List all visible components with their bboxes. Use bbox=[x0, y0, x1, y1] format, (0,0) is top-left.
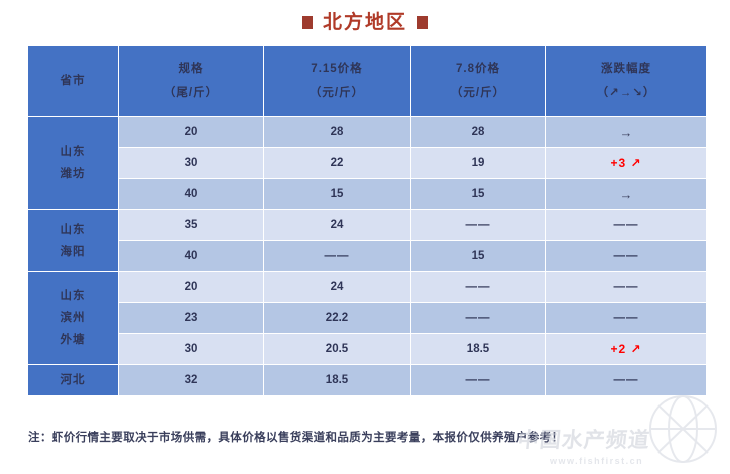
province-line: 滨州 bbox=[28, 307, 118, 329]
price-715-cell: 28 bbox=[264, 117, 410, 147]
table-row: 302219+3 ↗ bbox=[28, 148, 706, 178]
price-715-cell: 15 bbox=[264, 179, 410, 209]
table-row: 山东潍坊202828→ bbox=[28, 117, 706, 147]
province-cell: 山东潍坊 bbox=[28, 117, 118, 209]
price-78-cell: —— bbox=[411, 365, 545, 395]
spec-cell-value: 23 bbox=[185, 312, 198, 324]
price-715-cell-value: 22.2 bbox=[326, 312, 348, 324]
change-value: —— bbox=[614, 374, 639, 386]
change-value: —— bbox=[614, 312, 639, 324]
price-715-cell-value: —— bbox=[325, 250, 350, 262]
column-header-price-715: 7.15价格 （元/斤） bbox=[264, 46, 410, 116]
spec-cell: 30 bbox=[119, 148, 263, 178]
change-value: +2 ↗ bbox=[610, 342, 641, 356]
price-78-cell: —— bbox=[411, 210, 545, 240]
column-header-change-main: 涨跌幅度 bbox=[546, 59, 706, 79]
change-value: +3 ↗ bbox=[610, 156, 641, 170]
price-715-cell-value: 18.5 bbox=[326, 374, 348, 386]
spec-cell: 32 bbox=[119, 365, 263, 395]
province-line: 海阳 bbox=[28, 241, 118, 263]
watermark-url: www.fishfirst.cn bbox=[550, 456, 643, 466]
spec-cell-value: 40 bbox=[185, 250, 198, 262]
table-body: 山东潍坊202828→302219+3 ↗401515→山东海阳3524————… bbox=[28, 117, 706, 395]
province-line: 潍坊 bbox=[28, 163, 118, 185]
shrimp-price-table: 省市 规格 （尾/斤） 7.15价格 （元/斤） 7.8价格 （元/斤） 涨跌幅… bbox=[27, 45, 707, 396]
spec-cell: 30 bbox=[119, 334, 263, 364]
table-row: 山东海阳3524———— bbox=[28, 210, 706, 240]
table-row: 河北3218.5———— bbox=[28, 365, 706, 395]
price-78-cell: 18.5 bbox=[411, 334, 545, 364]
change-cell: —— bbox=[546, 241, 706, 271]
price-78-cell-value: —— bbox=[466, 374, 491, 386]
table-header-row: 省市 规格 （尾/斤） 7.15价格 （元/斤） 7.8价格 （元/斤） 涨跌幅… bbox=[28, 46, 706, 116]
province-cell: 山东滨州外塘 bbox=[28, 272, 118, 364]
change-cell: —— bbox=[546, 365, 706, 395]
spec-cell: 35 bbox=[119, 210, 263, 240]
change-cell: —— bbox=[546, 303, 706, 333]
spec-cell-value: 30 bbox=[185, 343, 198, 355]
price-715-cell: 24 bbox=[264, 272, 410, 302]
price-715-cell: 22 bbox=[264, 148, 410, 178]
spec-cell: 40 bbox=[119, 241, 263, 271]
spec-cell: 20 bbox=[119, 272, 263, 302]
price-78-cell: 19 bbox=[411, 148, 545, 178]
change-value: —— bbox=[614, 219, 639, 231]
spec-cell-value: 20 bbox=[185, 126, 198, 138]
spec-cell: 40 bbox=[119, 179, 263, 209]
price-715-cell-value: 24 bbox=[331, 281, 344, 293]
table-header: 省市 规格 （尾/斤） 7.15价格 （元/斤） 7.8价格 （元/斤） 涨跌幅… bbox=[28, 46, 706, 116]
price-715-cell: 24 bbox=[264, 210, 410, 240]
column-header-price-78-main: 7.8价格 bbox=[411, 59, 545, 79]
change-cell: —— bbox=[546, 272, 706, 302]
column-header-spec: 规格 （尾/斤） bbox=[119, 46, 263, 116]
spec-cell-value: 20 bbox=[185, 281, 198, 293]
price-78-cell-value: 28 bbox=[472, 126, 485, 138]
price-715-cell-value: 20.5 bbox=[326, 343, 348, 355]
price-78-cell: 15 bbox=[411, 179, 545, 209]
change-value: —— bbox=[614, 250, 639, 262]
price-78-cell-value: 15 bbox=[472, 250, 485, 262]
price-table-container: 省市 规格 （尾/斤） 7.15价格 （元/斤） 7.8价格 （元/斤） 涨跌幅… bbox=[27, 45, 703, 396]
province-cell: 河北 bbox=[28, 365, 118, 395]
table-row: 山东滨州外塘2024———— bbox=[28, 272, 706, 302]
column-header-price-715-unit: （元/斤） bbox=[264, 83, 410, 103]
price-715-cell-value: 22 bbox=[331, 157, 344, 169]
change-value: → bbox=[620, 125, 633, 140]
column-header-price-78: 7.8价格 （元/斤） bbox=[411, 46, 545, 116]
price-715-cell: 18.5 bbox=[264, 365, 410, 395]
price-715-cell-value: 24 bbox=[331, 219, 344, 231]
page-title-bar: 北方地区 bbox=[0, 0, 730, 45]
table-row: 3020.518.5+2 ↗ bbox=[28, 334, 706, 364]
change-value: → bbox=[620, 187, 633, 202]
price-78-cell: —— bbox=[411, 303, 545, 333]
column-header-change: 涨跌幅度 （↗→↘） bbox=[546, 46, 706, 116]
price-715-cell: 20.5 bbox=[264, 334, 410, 364]
column-header-change-legend: （↗→↘） bbox=[546, 83, 706, 103]
spec-cell-value: 32 bbox=[185, 374, 198, 386]
title-square-right-icon bbox=[417, 16, 428, 29]
table-row: 2322.2———— bbox=[28, 303, 706, 333]
price-78-cell-value: —— bbox=[466, 281, 491, 293]
column-header-price-78-unit: （元/斤） bbox=[411, 83, 545, 103]
table-row: 40——15—— bbox=[28, 241, 706, 271]
price-715-cell-value: 28 bbox=[331, 126, 344, 138]
column-header-price-715-main: 7.15价格 bbox=[264, 59, 410, 79]
change-cell: → bbox=[546, 117, 706, 147]
column-header-province: 省市 bbox=[28, 46, 118, 116]
province-line: 外塘 bbox=[28, 329, 118, 351]
price-78-cell-value: 19 bbox=[472, 157, 485, 169]
column-header-province-main: 省市 bbox=[28, 71, 118, 91]
price-715-cell-value: 15 bbox=[331, 188, 344, 200]
table-row: 401515→ bbox=[28, 179, 706, 209]
change-value: —— bbox=[614, 281, 639, 293]
column-header-spec-unit: （尾/斤） bbox=[119, 83, 263, 103]
change-cell: → bbox=[546, 179, 706, 209]
footer-note: 注：虾价行情主要取决于市场供需，具体价格以售货渠道和品质为主要考量，本报价仅供养… bbox=[28, 429, 704, 445]
change-cell: +2 ↗ bbox=[546, 334, 706, 364]
price-78-cell-value: —— bbox=[466, 312, 491, 324]
province-line: 山东 bbox=[28, 219, 118, 241]
spec-cell-value: 35 bbox=[185, 219, 198, 231]
page-title: 北方地区 bbox=[323, 13, 407, 32]
price-78-cell-value: 18.5 bbox=[467, 343, 489, 355]
price-78-cell-value: 15 bbox=[472, 188, 485, 200]
price-78-cell: 28 bbox=[411, 117, 545, 147]
column-header-spec-main: 规格 bbox=[119, 59, 263, 79]
spec-cell-value: 40 bbox=[185, 188, 198, 200]
price-715-cell: —— bbox=[264, 241, 410, 271]
province-cell: 山东海阳 bbox=[28, 210, 118, 271]
title-square-left-icon bbox=[302, 16, 313, 29]
change-cell: —— bbox=[546, 210, 706, 240]
price-715-cell: 22.2 bbox=[264, 303, 410, 333]
province-line: 山东 bbox=[28, 285, 118, 307]
change-cell: +3 ↗ bbox=[546, 148, 706, 178]
spec-cell-value: 30 bbox=[185, 157, 198, 169]
province-line: 山东 bbox=[28, 141, 118, 163]
price-78-cell: 15 bbox=[411, 241, 545, 271]
province-line: 河北 bbox=[28, 369, 118, 391]
spec-cell: 23 bbox=[119, 303, 263, 333]
spec-cell: 20 bbox=[119, 117, 263, 147]
price-78-cell-value: —— bbox=[466, 219, 491, 231]
price-78-cell: —— bbox=[411, 272, 545, 302]
